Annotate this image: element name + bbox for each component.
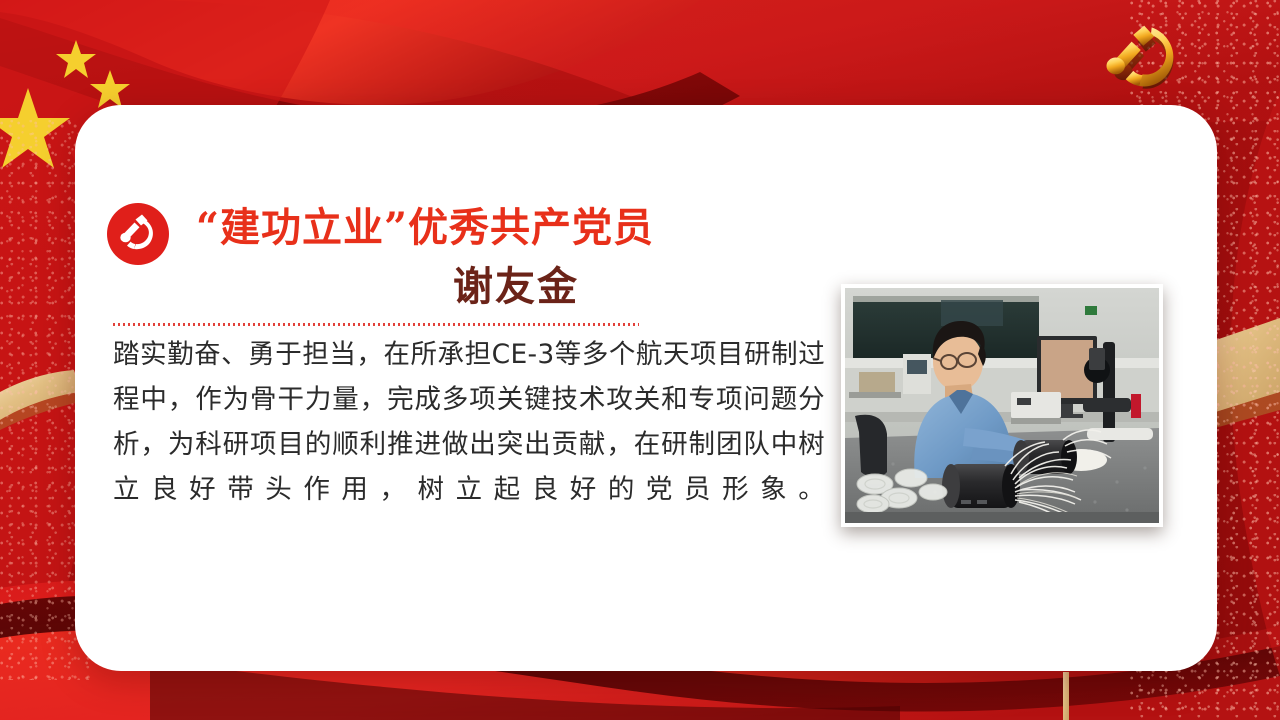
gold-hammer-sickle-icon — [1102, 24, 1188, 96]
page-subtitle: 谢友金 — [196, 262, 836, 312]
divider — [113, 323, 639, 326]
hammer-sickle-icon — [107, 203, 169, 265]
photo-frame — [841, 284, 1163, 527]
page-title: “建功立业”优秀共产党员 — [196, 204, 836, 252]
photo-image — [845, 288, 1159, 523]
body-paragraph: 踏实勤奋、勇于担当，在所承担CE-3等多个航天项目研制过程中，作为骨干力量，完成… — [113, 332, 825, 512]
